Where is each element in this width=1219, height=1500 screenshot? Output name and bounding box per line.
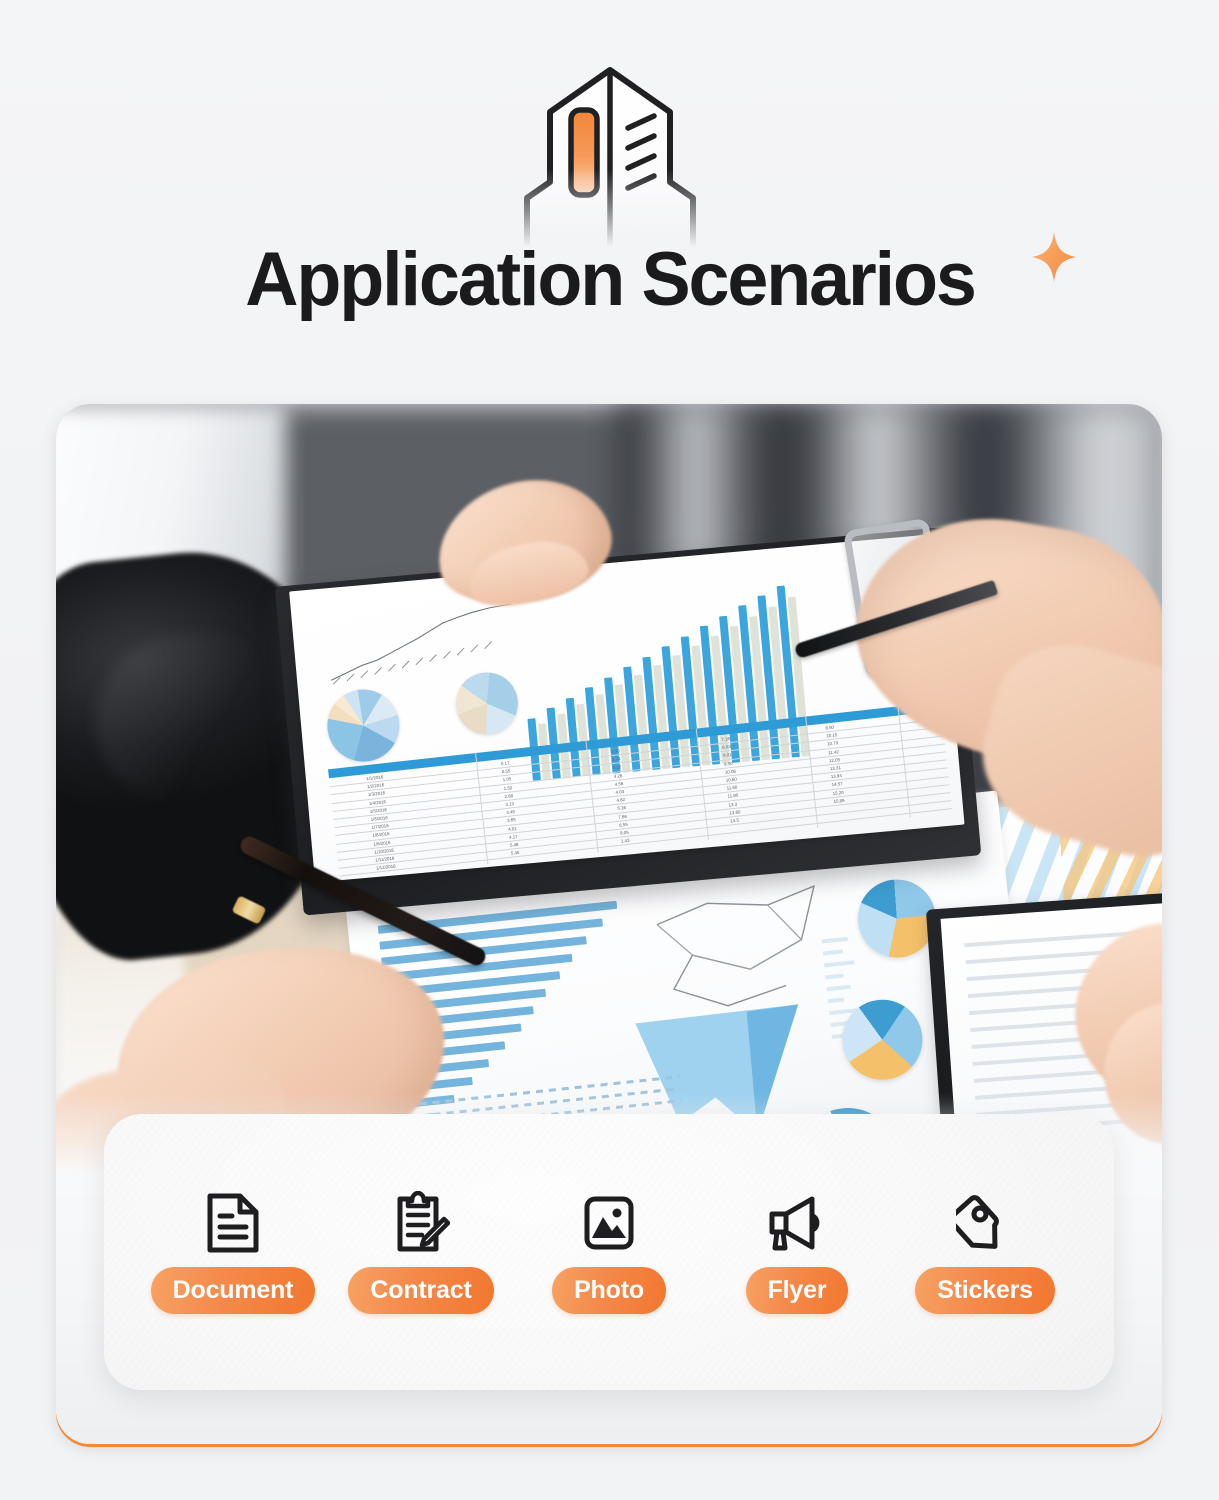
application-scenarios-page: Application Scenarios (0, 0, 1219, 1500)
category-label-contract[interactable]: Contract (348, 1267, 493, 1314)
category-label-stickers[interactable]: Stickers (915, 1267, 1055, 1314)
page-header: Application Scenarios (0, 0, 1219, 390)
category-document[interactable]: Document (139, 1191, 327, 1314)
report-pie-chart-1 (324, 686, 402, 764)
category-flyer[interactable]: Flyer (703, 1191, 891, 1314)
category-stickers[interactable]: Stickers (891, 1191, 1079, 1314)
megaphone-icon (765, 1191, 829, 1255)
category-label-document[interactable]: Document (151, 1267, 316, 1314)
categories-row: Document Contract (104, 1114, 1114, 1390)
category-photo[interactable]: Photo (515, 1191, 703, 1314)
category-label-photo[interactable]: Photo (552, 1267, 666, 1314)
page-title: Application Scenarios (245, 238, 974, 322)
tag-icon (953, 1191, 1017, 1255)
clipboard-pen-icon (389, 1191, 453, 1255)
building-skyscraper-icon (495, 62, 725, 247)
document-icon (201, 1191, 265, 1255)
sparkle-star-icon (1031, 231, 1077, 283)
category-contract[interactable]: Contract (327, 1191, 515, 1314)
application-photo-panel: 1/1/20160.173.507.168.50 1/2/20160.553.7… (56, 404, 1162, 1444)
report-pie-chart-2 (453, 670, 520, 737)
sheet-network-chart (646, 876, 849, 1025)
categories-card: Document Contract (104, 1114, 1114, 1390)
image-icon (577, 1191, 641, 1255)
category-label-flyer[interactable]: Flyer (746, 1267, 849, 1314)
suit-fold-highlight (96, 634, 276, 804)
